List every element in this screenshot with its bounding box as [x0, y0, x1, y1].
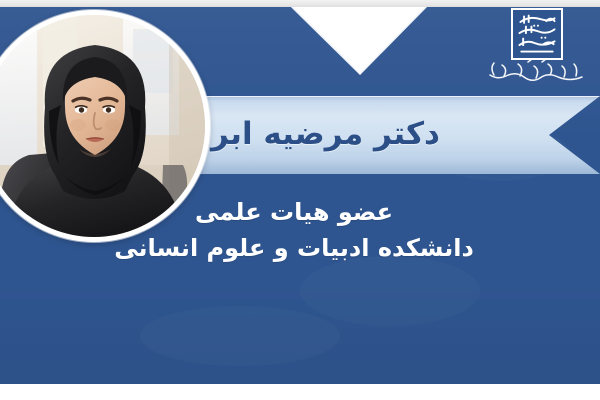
logo-caption-calligraphy [484, 56, 588, 84]
profile-card: دکتر مرضیه ابراهیمی [0, 0, 600, 400]
subtitle-block: عضو هیات علمی دانشکده ادبیات و علوم انسا… [0, 196, 600, 264]
university-emblem-icon [511, 8, 563, 60]
subtitle-line-1: عضو هیات علمی [0, 196, 600, 228]
university-logo [482, 6, 592, 84]
public-relations-script [484, 56, 588, 84]
subtitle-line-2: دانشکده ادبیات و علوم انسانی [0, 232, 600, 264]
emblem-calligraphy [513, 10, 561, 58]
